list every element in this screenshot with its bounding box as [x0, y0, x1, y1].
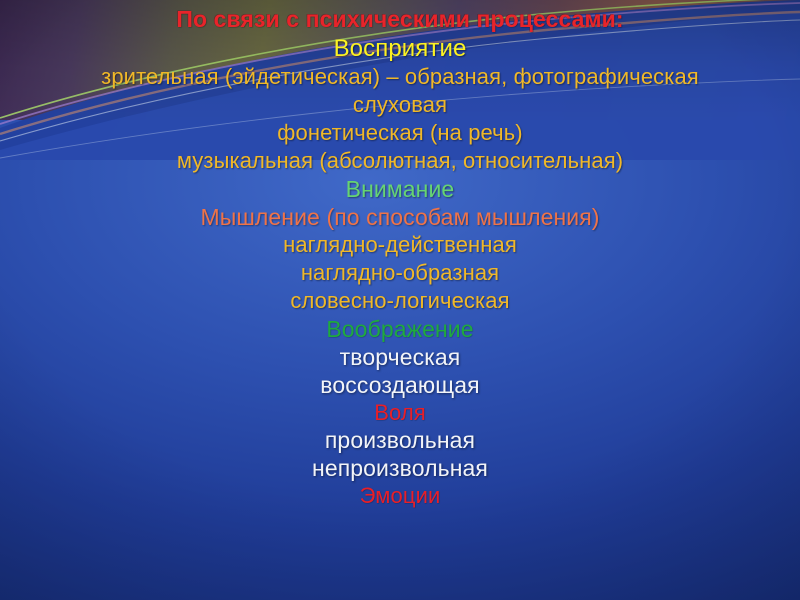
item-slovesno-logicheskaya: словесно-логическая: [0, 290, 800, 312]
heading-volya: Воля: [0, 402, 800, 424]
heading-emotsii: Эмоции: [0, 485, 800, 507]
heading-vospriyatie: Восприятие: [0, 37, 800, 61]
item-foneticheskaya: фонетическая (на речь): [0, 122, 800, 144]
item-sluhovaya: слуховая: [0, 94, 800, 116]
heading-vnimanie: Внимание: [0, 178, 800, 201]
heading-myshlenie: Мышление (по способам мышления): [0, 206, 800, 229]
item-zritelnaya: зрительная (эйдетическая) – образная, фо…: [0, 66, 800, 88]
item-tvorcheskaya: творческая: [0, 346, 800, 369]
heading-voobrazhenie: Воображение: [0, 318, 800, 341]
item-naglyadno-deystvennaya: наглядно-действенная: [0, 234, 800, 256]
slide-title: По связи с психическими процессами:: [0, 8, 800, 31]
slide-text-block: По связи с психическими процессами: Восп…: [0, 8, 800, 512]
item-muzykalnaya: музыкальная (абсолютная, относительная): [0, 150, 800, 172]
item-neproizvolnaya: непроизвольная: [0, 457, 800, 480]
presentation-slide: По связи с психическими процессами: Восп…: [0, 0, 800, 600]
item-vossozdayushchaya: воссоздающая: [0, 374, 800, 397]
item-proizvolnaya: произвольная: [0, 429, 800, 452]
item-naglyadno-obraznaya: наглядно-образная: [0, 262, 800, 284]
